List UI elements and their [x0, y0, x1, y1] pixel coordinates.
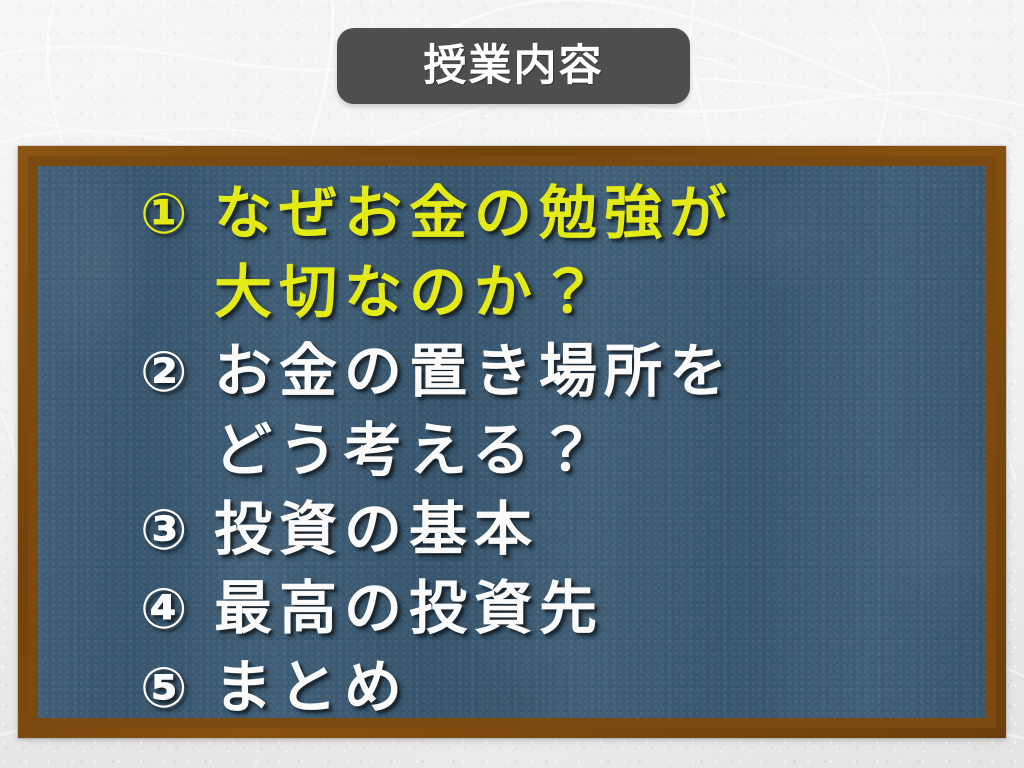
list-item-label: なぜお金の勉強が	[214, 174, 734, 253]
list-item-marker: ③	[140, 491, 214, 570]
agenda-list: ① なぜお金の勉強が 大切なのか？ ② お金の置き場所を どう考える？ ③	[140, 174, 972, 714]
list-item-label: まとめ	[214, 648, 409, 718]
list-item-label: 大切なのか？	[214, 253, 604, 332]
list-item: ⑤ まとめ	[140, 648, 972, 718]
page-title: 授業内容	[424, 45, 604, 88]
list-item-label: どう考える？	[214, 411, 602, 490]
list-item-marker: ④	[140, 570, 214, 649]
list-item-label: 最高の投資先	[214, 569, 604, 648]
chalkboard-frame: ① なぜお金の勉強が 大切なのか？ ② お金の置き場所を どう考える？ ③	[18, 146, 1006, 738]
list-item-label: お金の置き場所を	[214, 332, 734, 411]
list-item-label: 投資の基本	[214, 490, 539, 569]
list-item-marker: ⑤	[140, 649, 214, 718]
list-item: 大切なのか？	[140, 253, 972, 332]
list-item: どう考える？	[140, 411, 972, 490]
slide-canvas: 授業内容 ① なぜお金の勉強が 大切なのか？ ② お金の置き場所を	[0, 0, 1024, 768]
list-item: ③ 投資の基本	[140, 490, 972, 569]
chalkboard-surface: ① なぜお金の勉強が 大切なのか？ ② お金の置き場所を どう考える？ ③	[38, 166, 986, 718]
list-item: ② お金の置き場所を	[140, 332, 972, 411]
list-item: ④ 最高の投資先	[140, 569, 972, 648]
list-item-marker: ②	[140, 333, 214, 412]
slide-title-chip: 授業内容	[337, 28, 690, 104]
list-item: ① なぜお金の勉強が	[140, 174, 972, 253]
list-item-marker: ①	[140, 175, 214, 254]
